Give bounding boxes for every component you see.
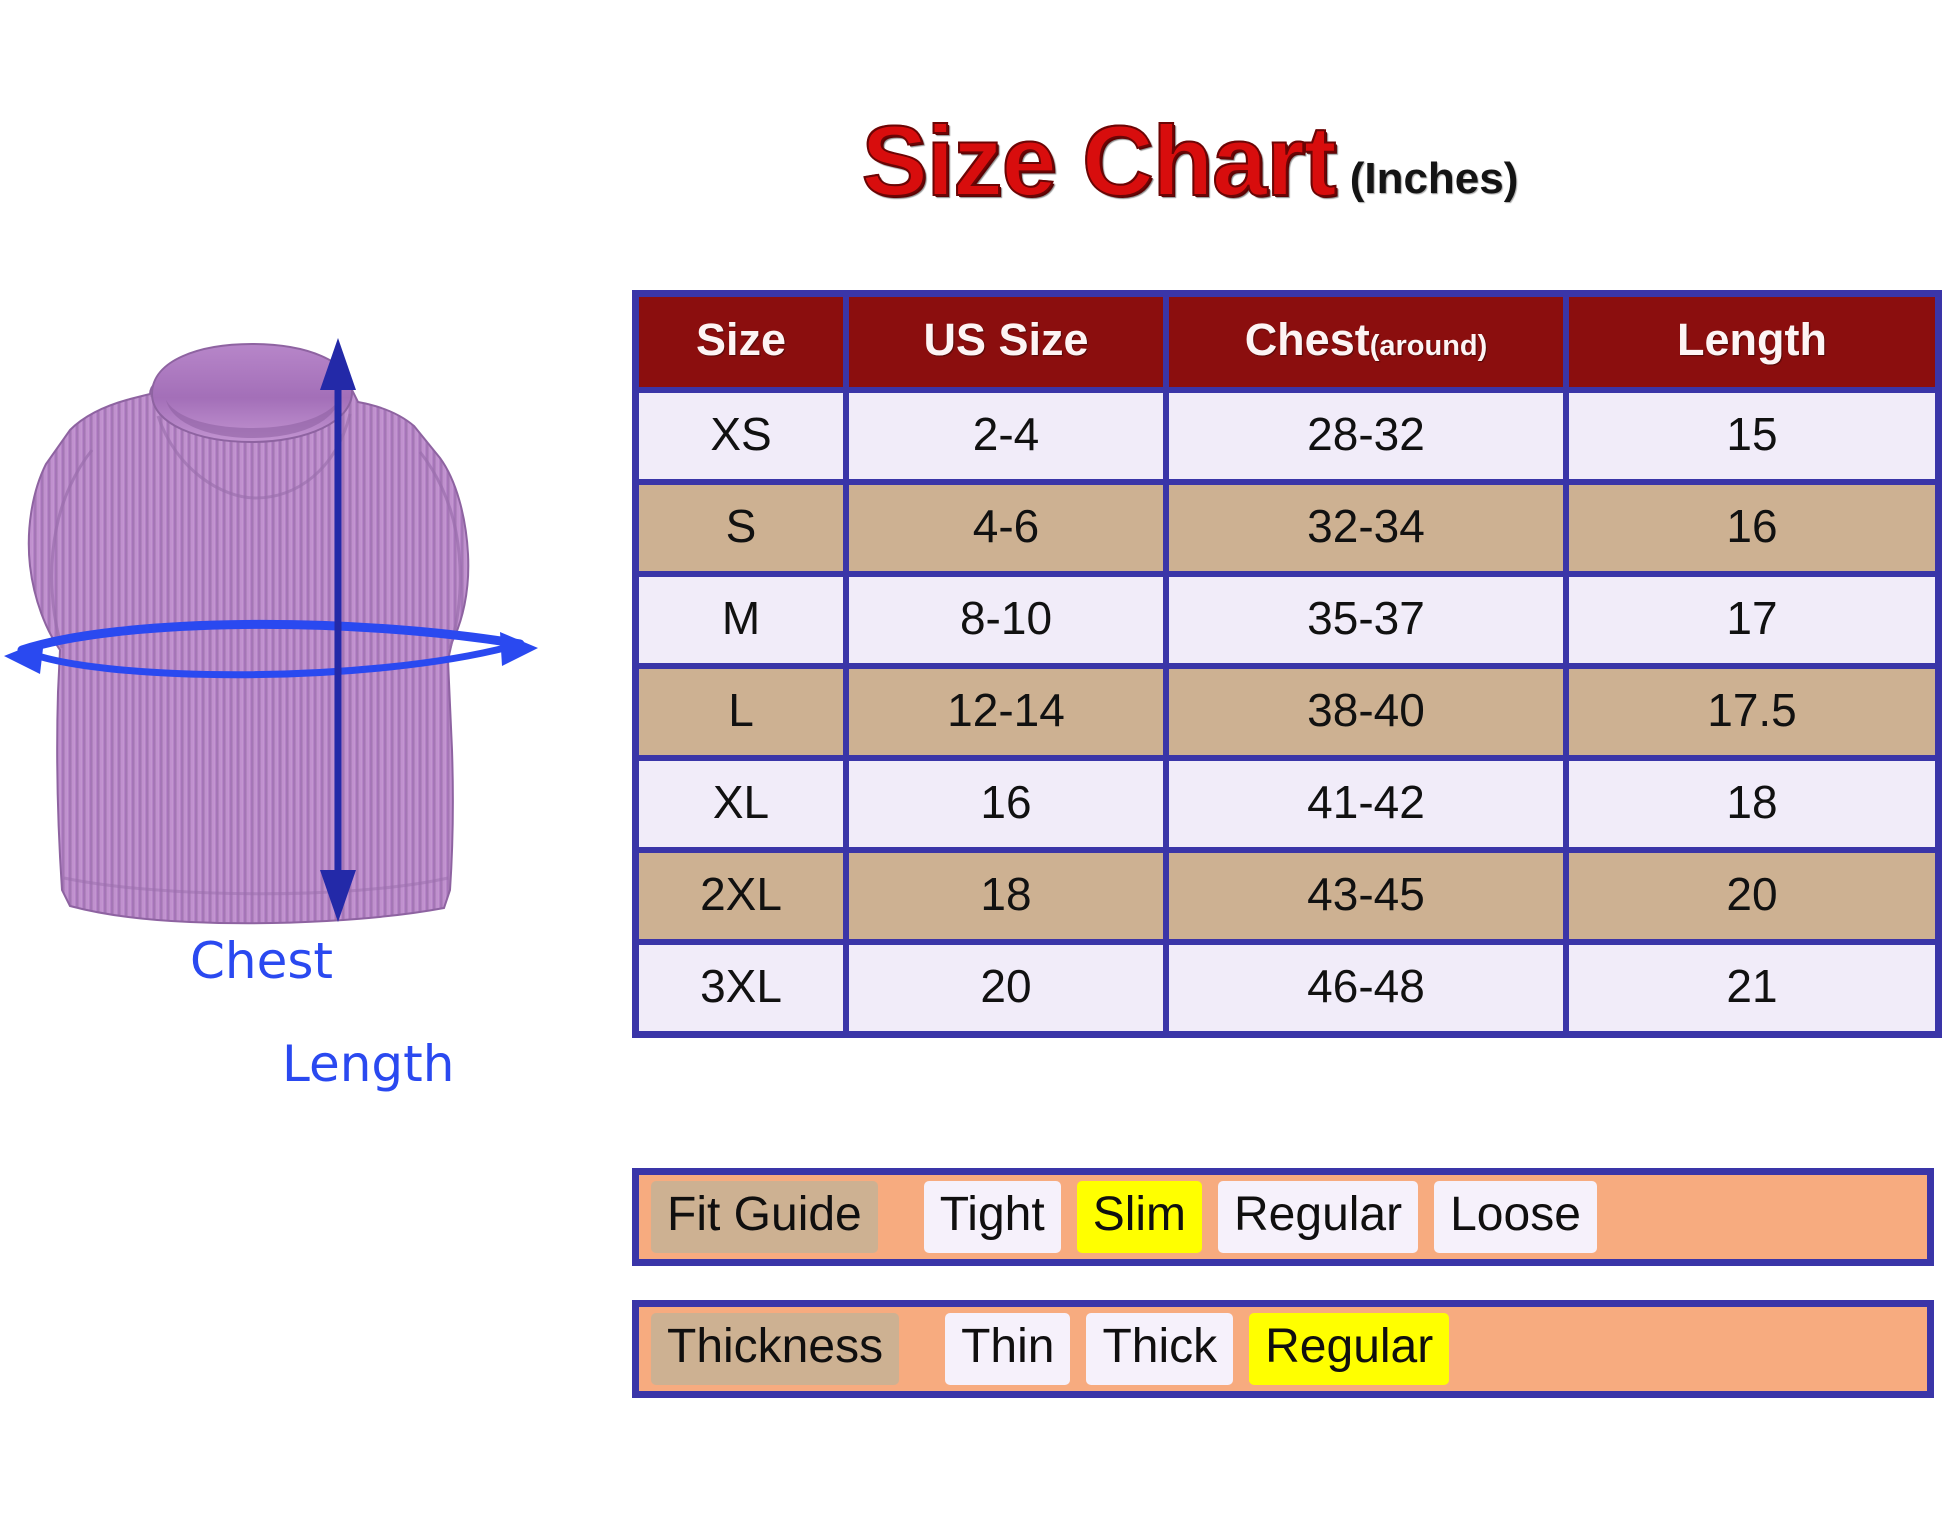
cell-chest: 28-32: [1166, 390, 1566, 482]
table-header-row: Size US Size Chest(around) Length: [636, 294, 1938, 390]
fit-option-slim[interactable]: Slim: [1077, 1181, 1202, 1253]
page-title-text: Size Chart: [862, 111, 1350, 210]
table-row: L12-1438-4017.5: [636, 666, 1938, 758]
thickness-title: Thickness: [651, 1313, 899, 1385]
fit-option-regular[interactable]: Regular: [1218, 1181, 1418, 1253]
size-chart-table: Size US Size Chest(around) Length XS2-42…: [632, 290, 1942, 1038]
cell-us-size: 4-6: [846, 482, 1166, 574]
crop-top-illustration: [0, 330, 560, 940]
cell-chest: 32-34: [1166, 482, 1566, 574]
cell-length: 15: [1566, 390, 1938, 482]
table-row: 3XL2046-4821: [636, 942, 1938, 1034]
cell-chest: 43-45: [1166, 850, 1566, 942]
table-row: XS2-428-3215: [636, 390, 1938, 482]
cell-size: 3XL: [636, 942, 846, 1034]
cell-us-size: 18: [846, 850, 1166, 942]
thickness-option-regular[interactable]: Regular: [1249, 1313, 1449, 1385]
cell-size: XL: [636, 758, 846, 850]
cell-length: 17.5: [1566, 666, 1938, 758]
page-title: Size Chart (Inches): [640, 95, 1740, 210]
cell-us-size: 8-10: [846, 574, 1166, 666]
fit-option-tight[interactable]: Tight: [924, 1181, 1061, 1253]
cell-chest: 41-42: [1166, 758, 1566, 850]
page-title-unit: (Inches): [1350, 157, 1519, 210]
cell-length: 17: [1566, 574, 1938, 666]
column-header-chest-text: Chest: [1245, 314, 1370, 365]
cell-length: 21: [1566, 942, 1938, 1034]
cell-us-size: 12-14: [846, 666, 1166, 758]
cell-length: 16: [1566, 482, 1938, 574]
cell-us-size: 2-4: [846, 390, 1166, 482]
chest-measure-label: Chest: [190, 932, 333, 990]
column-header-chest: Chest(around): [1166, 294, 1566, 390]
table-row: XL1641-4218: [636, 758, 1938, 850]
fit-guide-bar: Fit Guide Tight Slim Regular Loose: [632, 1168, 1934, 1266]
cell-size: 2XL: [636, 850, 846, 942]
column-header-us-size: US Size: [846, 294, 1166, 390]
fit-guide-title: Fit Guide: [651, 1181, 878, 1253]
thickness-option-thick[interactable]: Thick: [1086, 1313, 1233, 1385]
table-row: M8-1035-3717: [636, 574, 1938, 666]
thickness-option-thin[interactable]: Thin: [945, 1313, 1070, 1385]
table-row: S4-632-3416: [636, 482, 1938, 574]
cell-chest: 38-40: [1166, 666, 1566, 758]
cell-chest: 35-37: [1166, 574, 1566, 666]
garment-illustration: Chest Length: [0, 330, 560, 940]
cell-length: 18: [1566, 758, 1938, 850]
cell-us-size: 20: [846, 942, 1166, 1034]
cell-size: M: [636, 574, 846, 666]
cell-us-size: 16: [846, 758, 1166, 850]
thickness-bar: Thickness Thin Thick Regular: [632, 1300, 1934, 1398]
cell-length: 20: [1566, 850, 1938, 942]
length-measure-label: Length: [282, 1035, 454, 1093]
table-row: 2XL1843-4520: [636, 850, 1938, 942]
column-header-size: Size: [636, 294, 846, 390]
cell-size: XS: [636, 390, 846, 482]
fit-option-loose[interactable]: Loose: [1434, 1181, 1597, 1253]
cell-size: L: [636, 666, 846, 758]
cell-chest: 46-48: [1166, 942, 1566, 1034]
cell-size: S: [636, 482, 846, 574]
column-header-length: Length: [1566, 294, 1938, 390]
column-header-chest-sub: (around): [1370, 330, 1488, 362]
